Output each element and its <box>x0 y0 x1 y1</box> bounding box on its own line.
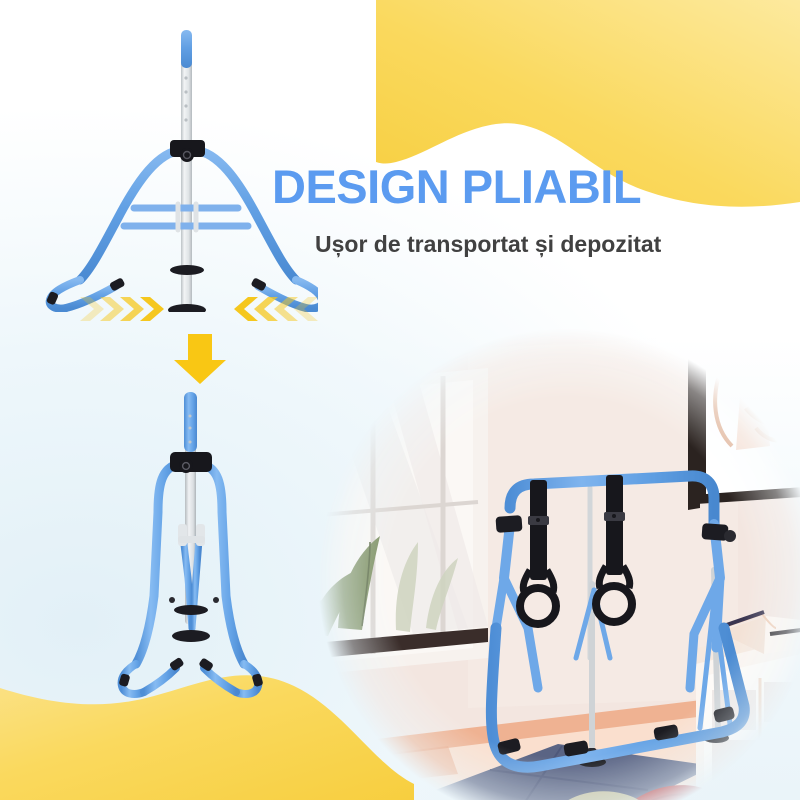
arrow-down-icon <box>168 332 232 386</box>
room-lifestyle-scene <box>318 328 800 800</box>
page-title: DESIGN PLIABIL <box>272 163 692 210</box>
window-with-plants <box>318 368 488 678</box>
chevrons-right-group-icon <box>78 294 188 324</box>
chevrons-left-group-icon <box>222 294 332 324</box>
page-subtitle: Ușor de transportat și depozitat <box>315 233 735 256</box>
product-folded-illustration <box>92 388 292 708</box>
product-feature-banner: DESIGN PLIABIL Ușor de transportat și de… <box>0 0 800 800</box>
